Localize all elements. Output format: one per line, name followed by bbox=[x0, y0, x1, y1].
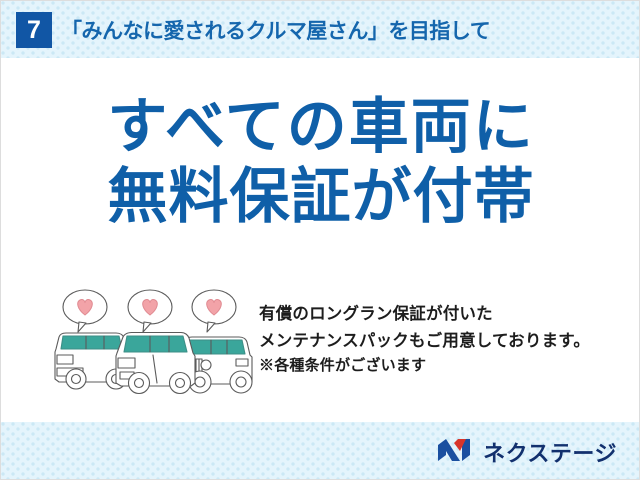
heart-bubble-2 bbox=[128, 290, 172, 332]
heart-bubble-3 bbox=[192, 290, 236, 332]
header-title: 「みんなに愛されるクルマ屋さん」を目指して bbox=[61, 15, 640, 45]
section-number-badge: 7 bbox=[16, 12, 52, 48]
description-line-2: メンテナンスパックもご用意しております。 bbox=[259, 328, 634, 355]
three-cars-with-heart-bubbles-illustration bbox=[53, 287, 258, 402]
car-minivan bbox=[116, 333, 195, 394]
description-line-1: 有償のロングラン保証が付いた bbox=[259, 301, 634, 328]
brand-name: ネクステージ bbox=[483, 436, 617, 468]
description-note: ※各種条件がございます bbox=[259, 354, 634, 378]
headline-block: すべての車両に 無料保証が付帯 bbox=[1, 96, 640, 228]
headline-line-1: すべての車両に bbox=[1, 96, 640, 158]
headline-line-2: 無料保証が付帯 bbox=[1, 166, 640, 228]
heart-bubble-1 bbox=[63, 290, 107, 332]
description-block: 有償のロングラン保証が付いた メンテナンスパックもご用意しております。 ※各種条… bbox=[259, 301, 634, 379]
banner-header: 7 「みんなに愛されるクルマ屋さん」を目指して bbox=[1, 1, 640, 58]
promotional-banner: 7 「みんなに愛されるクルマ屋さん」を目指して すべての車両に 無料保証が付帯 bbox=[0, 0, 640, 480]
nextage-n-mark-icon bbox=[436, 437, 476, 468]
brand-logo: ネクステージ bbox=[436, 437, 617, 467]
feature-row: 有償のロングラン保証が付いた メンテナンスパックもご用意しております。 ※各種条… bbox=[1, 287, 640, 407]
